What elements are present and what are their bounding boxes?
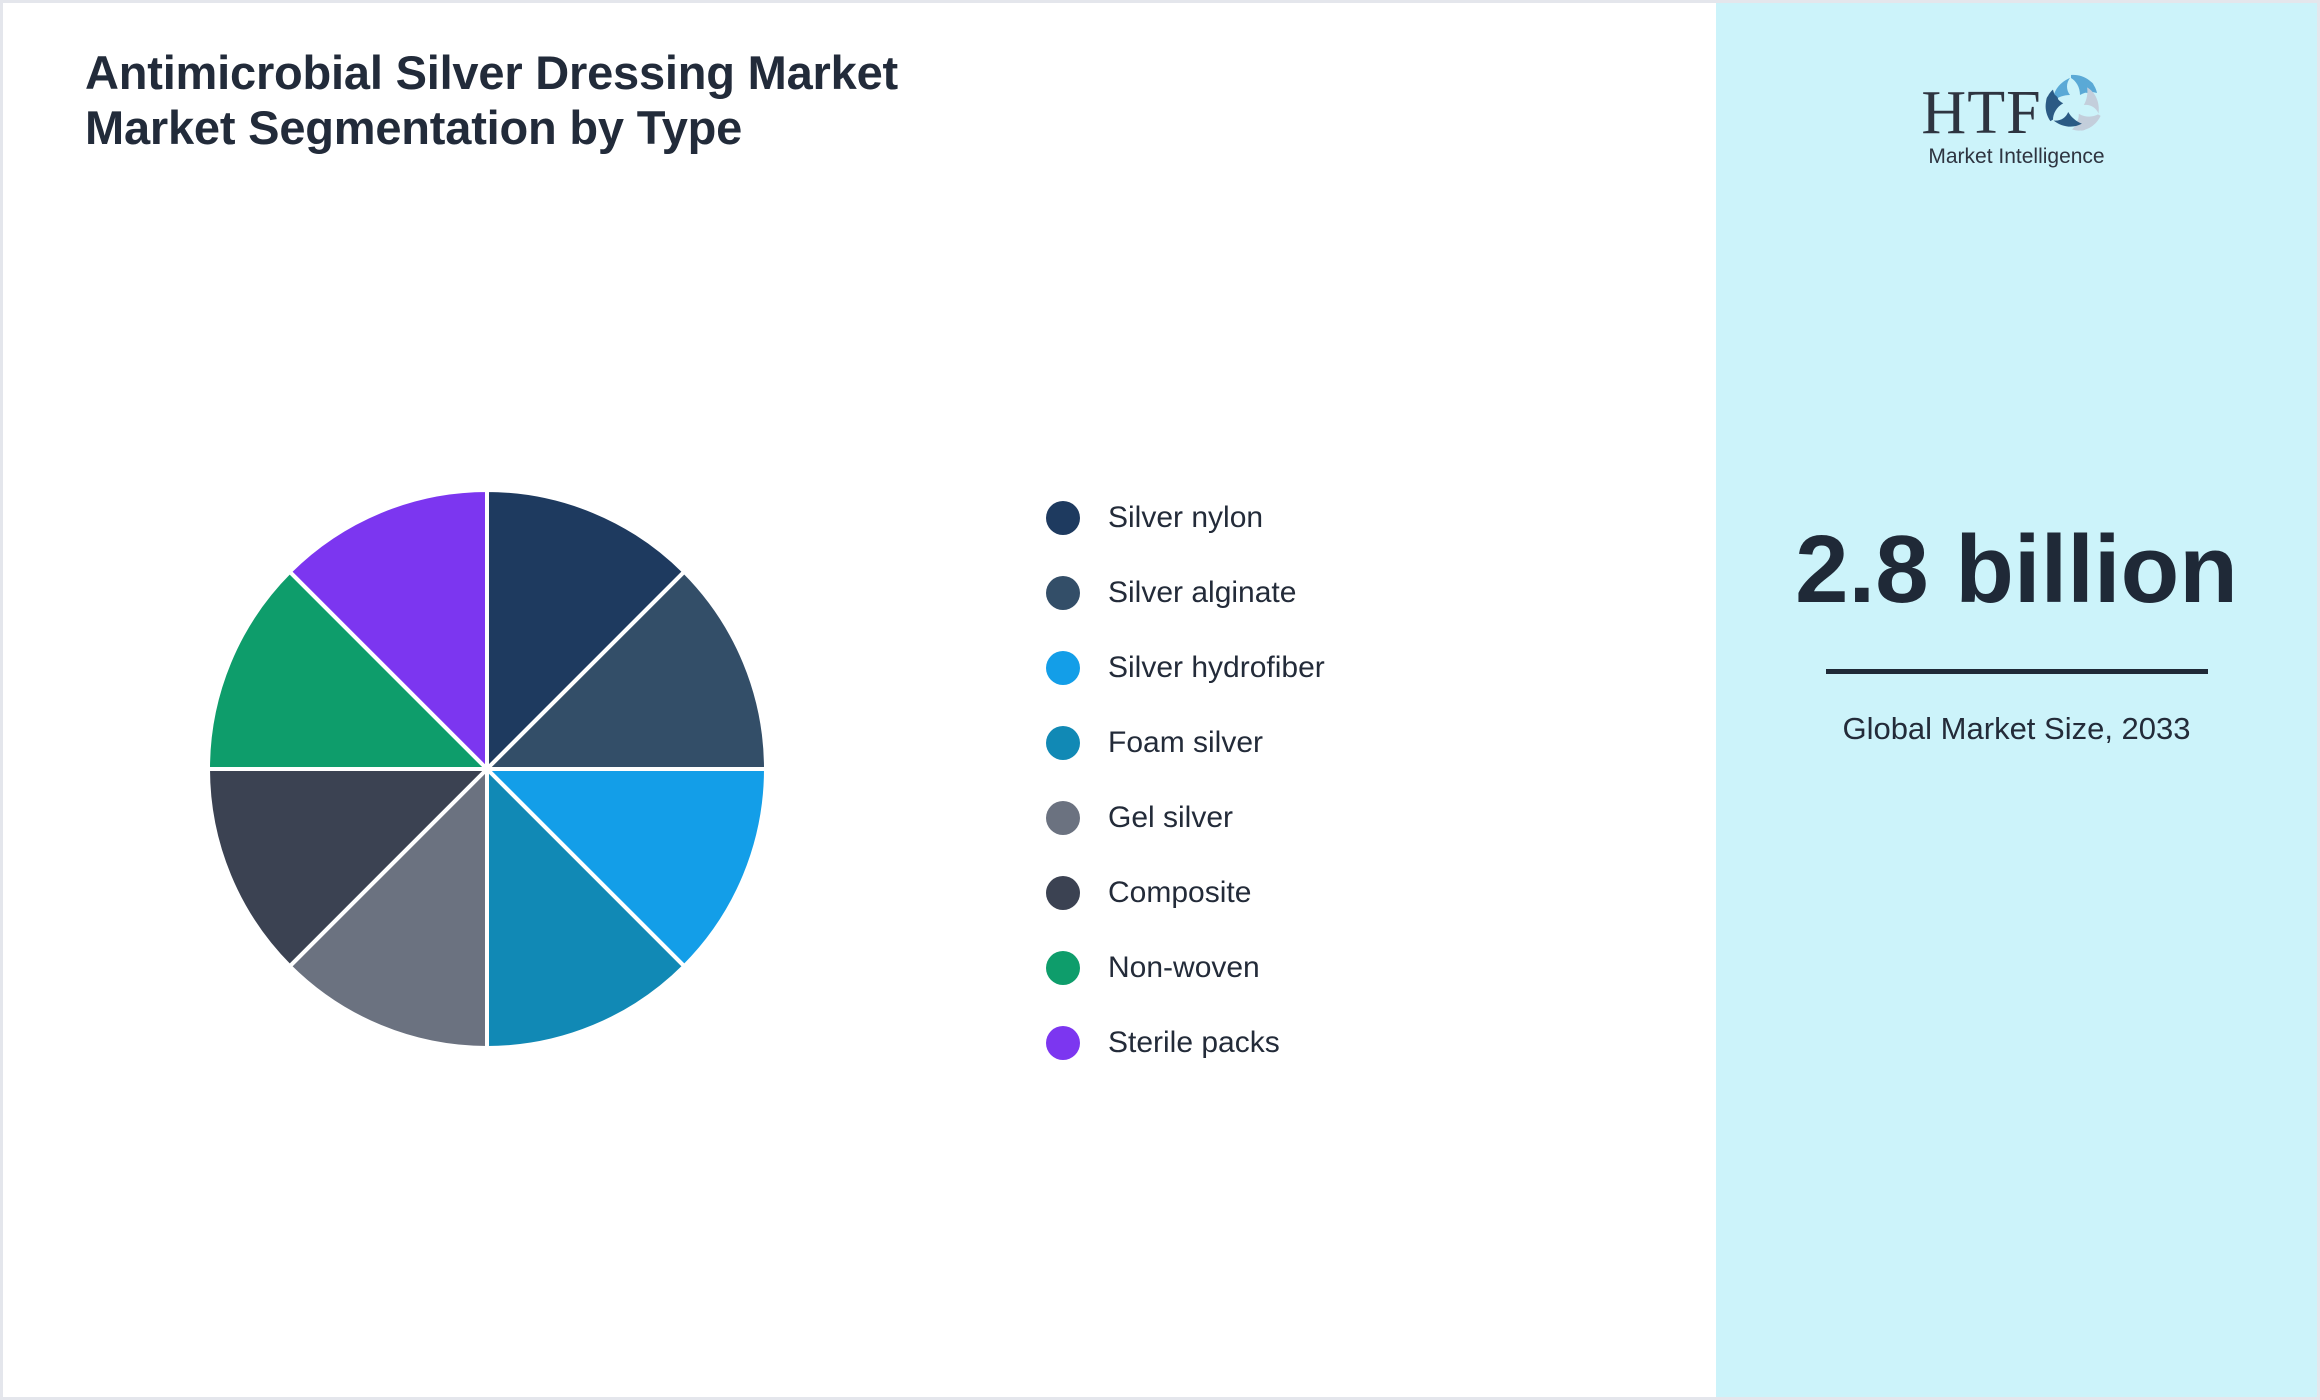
stat-caption: Global Market Size, 2033: [1716, 710, 2317, 749]
triskelion-people-icon: [2036, 69, 2112, 139]
legend-item[interactable]: Non-woven: [1046, 930, 1606, 1005]
legend-item[interactable]: Foam silver: [1046, 705, 1606, 780]
legend-swatch-icon: [1046, 651, 1080, 685]
chart-legend: Silver nylonSilver alginateSilver hydrof…: [1046, 480, 1606, 1080]
legend-swatch-icon: [1046, 876, 1080, 910]
logo-subtitle: Market Intelligence: [1928, 145, 2104, 169]
stat-panel: HTF: [1716, 3, 2317, 1397]
legend-item-label: Silver alginate: [1108, 576, 1296, 610]
legend-item[interactable]: Composite: [1046, 855, 1606, 930]
pie-chart: [208, 490, 766, 1048]
legend-item[interactable]: Silver alginate: [1046, 555, 1606, 630]
legend-item-label: Foam silver: [1108, 726, 1263, 760]
page-title: Antimicrobial Silver Dressing Market Mar…: [85, 45, 965, 156]
legend-item[interactable]: Sterile packs: [1046, 1005, 1606, 1080]
legend-swatch-icon: [1046, 801, 1080, 835]
logo-mark: HTF: [1921, 69, 2111, 143]
legend-item-label: Silver nylon: [1108, 501, 1263, 535]
legend-swatch-icon: [1046, 726, 1080, 760]
legend-item[interactable]: Gel silver: [1046, 780, 1606, 855]
legend-item-label: Sterile packs: [1108, 1026, 1280, 1060]
pie-chart-svg: [208, 490, 766, 1048]
stat-block: 2.8 billion Global Market Size, 2033: [1716, 519, 2317, 749]
logo-wordmark: HTF: [1921, 84, 2041, 143]
legend-item[interactable]: Silver nylon: [1046, 480, 1606, 555]
legend-item-label: Silver hydrofiber: [1108, 651, 1325, 685]
legend-item-label: Composite: [1108, 876, 1251, 910]
legend-swatch-icon: [1046, 951, 1080, 985]
legend-item-label: Non-woven: [1108, 951, 1260, 985]
legend-item-label: Gel silver: [1108, 801, 1233, 835]
stat-divider: [1826, 669, 2208, 674]
chart-panel: Antimicrobial Silver Dressing Market Mar…: [3, 3, 1716, 1397]
legend-swatch-icon: [1046, 501, 1080, 535]
brand-logo: HTF: [1716, 69, 2317, 179]
legend-swatch-icon: [1046, 576, 1080, 610]
legend-item[interactable]: Silver hydrofiber: [1046, 630, 1606, 705]
legend-swatch-icon: [1046, 1026, 1080, 1060]
infographic-card: Antimicrobial Silver Dressing Market Mar…: [0, 0, 2320, 1400]
stat-value: 2.8 billion: [1716, 519, 2317, 621]
